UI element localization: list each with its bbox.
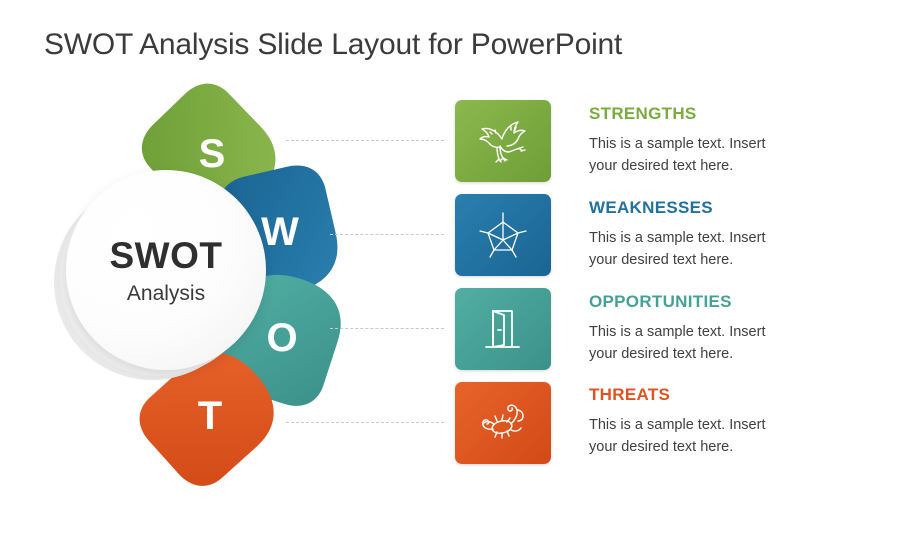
section-heading-strengths: STRENGTHS: [589, 105, 875, 124]
swot-wheel: S W: [48, 96, 378, 476]
section-strengths: STRENGTHS This is a sample text. Insert …: [589, 105, 875, 178]
radar-pentagon-icon: [479, 211, 527, 259]
connector-line-threats: [286, 422, 444, 423]
scorpion-icon: [477, 401, 529, 445]
section-body-weaknesses: This is a sample text. Insert your desir…: [589, 227, 779, 272]
hub-subtitle: Analysis: [127, 283, 205, 304]
icon-tile-opportunities[interactable]: [455, 288, 551, 370]
eagle-icon: [477, 118, 529, 164]
icon-tile-threats[interactable]: [455, 382, 551, 464]
icon-tile-weaknesses[interactable]: [455, 194, 551, 276]
connector-line-weaknesses: [330, 234, 444, 235]
section-body-opportunities: This is a sample text. Insert your desir…: [589, 321, 779, 366]
section-body-strengths: This is a sample text. Insert your desir…: [589, 133, 779, 178]
section-weaknesses: WEAKNESSES This is a sample text. Insert…: [589, 199, 875, 272]
connector-line-strengths: [286, 140, 444, 141]
section-opportunities: OPPORTUNITIES This is a sample text. Ins…: [589, 293, 875, 366]
open-door-icon: [481, 305, 525, 353]
page-title: SWOT Analysis Slide Layout for PowerPoin…: [44, 28, 622, 62]
section-heading-threats: THREATS: [589, 386, 875, 405]
swot-hub-circle: SWOT Analysis: [66, 170, 266, 370]
section-threats: THREATS This is a sample text. Insert yo…: [589, 386, 875, 459]
hub-title: SWOT: [110, 237, 223, 274]
connector-line-opportunities: [330, 328, 444, 329]
icon-tile-strengths[interactable]: [455, 100, 551, 182]
section-heading-weaknesses: WEAKNESSES: [589, 199, 875, 218]
swot-slide: SWOT Analysis Slide Layout for PowerPoin…: [0, 0, 900, 506]
section-heading-opportunities: OPPORTUNITIES: [589, 293, 875, 312]
section-body-threats: This is a sample text. Insert your desir…: [589, 414, 779, 459]
